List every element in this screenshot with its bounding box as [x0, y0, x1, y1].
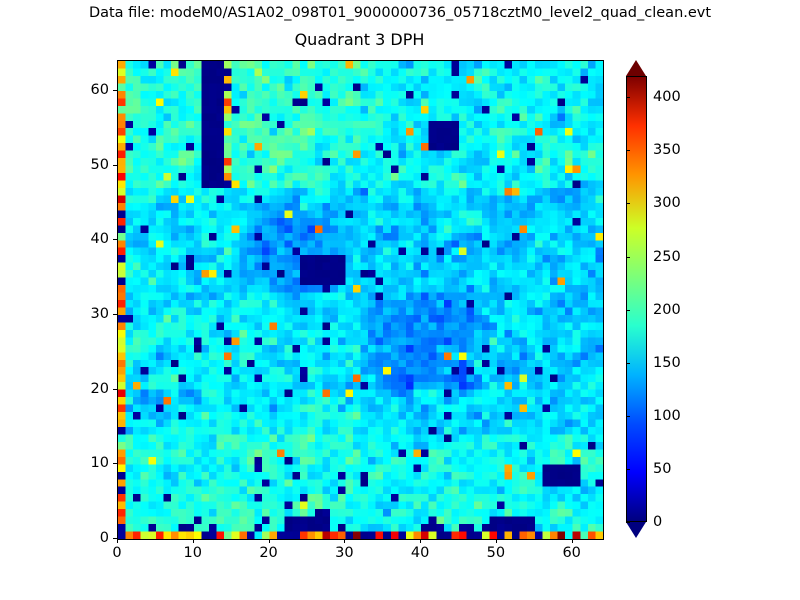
colorbar-tick-mark [626, 469, 630, 470]
y-tick-label: 0 [71, 530, 109, 546]
x-tick-mark [269, 539, 270, 543]
colorbar-gradient [626, 76, 647, 522]
y-tick-label: 10 [71, 455, 109, 471]
colorbar-tick-label: 50 [653, 461, 671, 477]
colorbar-tick-mark [626, 416, 630, 417]
x-tick-mark [193, 539, 194, 543]
heatmap-image[interactable] [118, 61, 603, 539]
x-tick-label: 40 [411, 545, 429, 561]
y-tick-mark [113, 239, 117, 240]
colorbar-tick-mark [626, 363, 630, 364]
heatmap-axes[interactable] [117, 60, 604, 540]
x-tick-label: 10 [184, 545, 202, 561]
colorbar-extend-max-arrow [626, 60, 646, 76]
y-tick-label: 50 [71, 157, 109, 173]
x-tick-mark [572, 539, 573, 543]
x-tick-label: 0 [112, 545, 121, 561]
y-tick-mark [113, 165, 117, 166]
colorbar-tick-label: 400 [653, 89, 681, 105]
colorbar-tick-label: 300 [653, 195, 681, 211]
y-tick-mark [113, 463, 117, 464]
colorbar-tick-mark [626, 203, 630, 204]
y-tick-label: 60 [71, 82, 109, 98]
x-tick-mark [344, 539, 345, 543]
colorbar-tick-mark [626, 97, 630, 98]
y-tick-label: 30 [71, 306, 109, 322]
axes-title: Quadrant 3 DPH [117, 30, 602, 49]
colorbar[interactable] [626, 60, 647, 538]
x-tick-label: 20 [259, 545, 277, 561]
x-tick-mark [496, 539, 497, 543]
y-tick-mark [113, 389, 117, 390]
colorbar-tick-label: 200 [653, 302, 681, 318]
y-tick-label: 40 [71, 231, 109, 247]
x-tick-label: 60 [562, 545, 580, 561]
y-tick-mark [113, 314, 117, 315]
colorbar-tick-label: 0 [653, 514, 662, 530]
y-tick-mark [113, 90, 117, 91]
colorbar-tick-mark [626, 257, 630, 258]
x-tick-mark [117, 539, 118, 543]
colorbar-tick-mark [626, 310, 630, 311]
colorbar-tick-label: 350 [653, 142, 681, 158]
x-tick-label: 30 [335, 545, 353, 561]
colorbar-extend-min-arrow [626, 522, 646, 538]
colorbar-tick-mark [626, 150, 630, 151]
x-tick-mark [420, 539, 421, 543]
y-tick-mark [113, 538, 117, 539]
colorbar-tick-label: 250 [653, 249, 681, 265]
data-file-suptitle: Data file: modeM0/AS1A02_098T01_90000007… [0, 5, 800, 21]
figure-canvas: Data file: modeM0/AS1A02_098T01_90000007… [0, 0, 800, 600]
colorbar-tick-label: 100 [653, 408, 681, 424]
colorbar-tick-mark [626, 522, 630, 523]
y-tick-label: 20 [71, 381, 109, 397]
colorbar-tick-label: 150 [653, 355, 681, 371]
x-tick-label: 50 [487, 545, 505, 561]
